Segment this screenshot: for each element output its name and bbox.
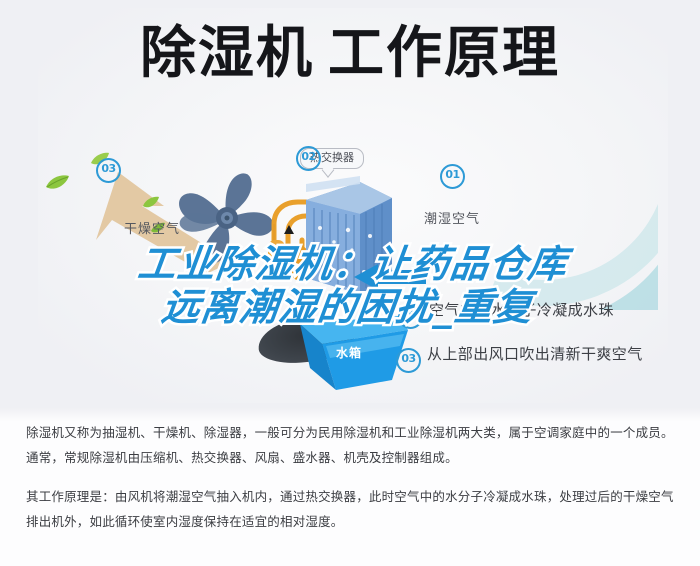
paragraph-two: 其工作原理是：由风机将潮湿空气抽入机内，通过热交换器，此时空气中的水分子冷凝成水…	[0, 470, 700, 534]
humid-air-label: 潮湿空气	[424, 208, 480, 227]
caption-text-03: 从上部出风口吹出清新干爽空气	[427, 345, 643, 363]
poster-root: 除湿机工作原理	[0, 0, 700, 566]
caption-text-02: 空气中的水分子冷凝成水珠	[429, 301, 614, 319]
title-part-two: 工作原理	[328, 21, 560, 86]
step-badge-03-top: 03	[96, 158, 121, 183]
step-badge-01: 01	[440, 164, 465, 189]
page-title: 除湿机工作原理	[0, 24, 700, 84]
dry-air-label: 干燥空气	[124, 218, 180, 237]
step-badge-02: 02	[296, 146, 321, 171]
caption-badge-03: 03	[396, 348, 421, 373]
leaf-icon	[142, 196, 160, 210]
leaf-icon	[44, 174, 70, 192]
caption-step-02: 02空气中的水分子冷凝成水珠	[398, 299, 614, 326]
air-inlet-arrow-icon	[352, 264, 426, 292]
article-body: 除湿机又称为抽湿机、干燥机、除湿器，一般可分为民用除湿机和工业除湿机两大类，属于…	[0, 408, 700, 566]
title-part-one: 除湿机	[140, 21, 314, 86]
copy-fade-divider	[0, 408, 700, 422]
caption-badge-02: 02	[398, 304, 423, 329]
caption-step-03: 03从上部出风口吹出清新干爽空气	[396, 343, 643, 370]
water-tank-label: 水箱	[336, 344, 362, 361]
illustration-panel: 除湿机工作原理	[0, 0, 700, 408]
